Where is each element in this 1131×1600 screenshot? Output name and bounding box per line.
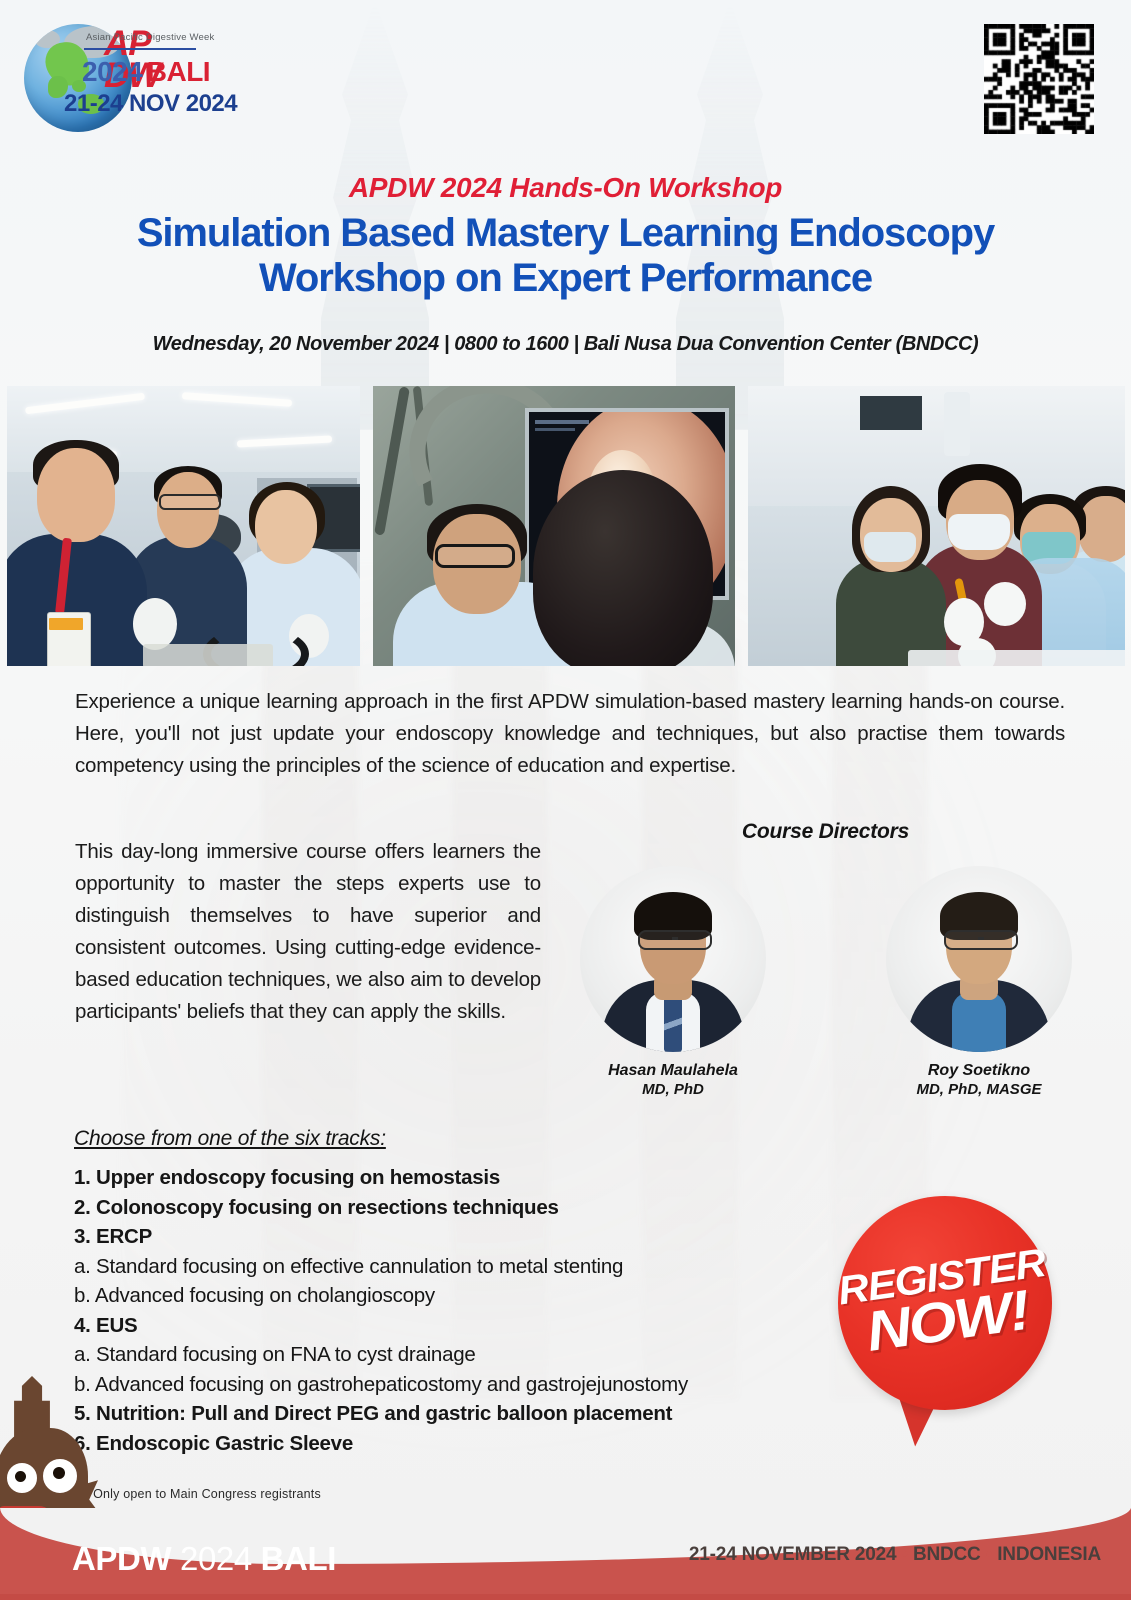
course-director-card: Roy Soetikno MD, PhD, MASGE [882, 866, 1076, 1100]
track-item: 5. Nutrition: Pull and Direct PEG and ga… [74, 1399, 814, 1429]
track-item: b. Advanced focusing on cholangioscopy [74, 1281, 814, 1311]
footer-brand-city: BALI [261, 1540, 336, 1577]
track-item: 4. EUS [74, 1311, 814, 1341]
tracks-footnote: *Only open to Main Congress registrants [88, 1487, 321, 1501]
photo-strip [7, 386, 1125, 666]
avatar [580, 866, 766, 1052]
event-datetime-venue: Wednesday, 20 November 2024 | 0800 to 16… [40, 333, 1091, 356]
logo-tagline: Asian Pacific Digestive Week [86, 32, 214, 43]
tracks-heading: Choose from one of the six tracks: [74, 1127, 386, 1151]
track-item: 2. Colonoscopy focusing on resections te… [74, 1193, 814, 1223]
page-title: Simulation Based Mastery Learning Endosc… [50, 211, 1081, 301]
apdw-logo: AP DW Asian Pacific Digestive Week 2024 … [24, 20, 264, 145]
course-director-degrees: MD, PhD, MASGE [882, 1081, 1076, 1100]
poster-canvas: AP DW Asian Pacific Digestive Week 2024 … [0, 0, 1131, 1600]
page-title-line1: Simulation Based Mastery Learning Endosc… [50, 211, 1081, 256]
footer-country: INDONESIA [997, 1544, 1101, 1565]
photo-hands-on-training-group [748, 386, 1125, 666]
course-director-name: Hasan Maulahela [576, 1061, 770, 1081]
photo-endoscopy-lab-faculty [7, 386, 360, 666]
logo-dates: 21-24 NOV 2024 [64, 90, 237, 118]
track-item: 1. Upper endoscopy focusing on hemostasi… [74, 1163, 814, 1193]
register-now-button[interactable]: REGISTER NOW! [826, 1180, 1076, 1450]
footer-brand-apdw: APDW [72, 1540, 171, 1577]
course-description-paragraph: This day-long immersive course offers le… [75, 836, 541, 1028]
footer-details: 21-24 NOVEMBER 2024 • BNDCC • INDONESIA [689, 1544, 1101, 1566]
qr-code[interactable] [984, 24, 1094, 134]
speech-bubble-icon: REGISTER NOW! [838, 1196, 1052, 1410]
intro-paragraph: Experience a unique learning approach in… [75, 686, 1065, 782]
track-item: a. Standard focusing on FNA to cyst drai… [74, 1340, 814, 1370]
track-item: b. Advanced focusing on gastrohepaticost… [74, 1370, 814, 1400]
tracks-list: 1. Upper endoscopy focusing on hemostasi… [74, 1163, 814, 1458]
logo-year: 2024 [82, 56, 142, 87]
footer-separator: • [986, 1544, 992, 1565]
track-item: 6. Endoscopic Gastric Sleeve [74, 1429, 814, 1459]
logo-year-city: 2024 BALI [82, 56, 210, 88]
course-directors-heading: Course Directors [580, 820, 1071, 844]
page-title-line2: Workshop on Expert Performance [50, 256, 1081, 301]
course-directors-list: Hasan Maulahela MD, PhD Roy Soetikno MD,… [576, 866, 1076, 1100]
footer-brand: APDW 2024 BALI [72, 1540, 336, 1578]
footer-dates: 21-24 NOVEMBER 2024 [689, 1544, 896, 1565]
logo-city: BALI [147, 56, 210, 87]
footer-brand-year: 2024 [180, 1540, 252, 1577]
photo-endoscopy-monitor-procedure [373, 386, 735, 666]
course-director-card: Hasan Maulahela MD, PhD [576, 866, 770, 1100]
track-item: 3. ERCP [74, 1222, 814, 1252]
logo-divider [84, 48, 196, 50]
course-director-degrees: MD, PhD [576, 1081, 770, 1100]
footer-band: APDW 2024 BALI 21-24 NOVEMBER 2024 • BND… [0, 1508, 1131, 1600]
event-kicker: APDW 2024 Hands-On Workshop [0, 172, 1131, 204]
avatar [886, 866, 1072, 1052]
course-director-name: Roy Soetikno [882, 1061, 1076, 1081]
footer-separator: • [901, 1544, 907, 1565]
footer-venue: BNDCC [913, 1544, 981, 1565]
track-item: a. Standard focusing on effective cannul… [74, 1252, 814, 1282]
